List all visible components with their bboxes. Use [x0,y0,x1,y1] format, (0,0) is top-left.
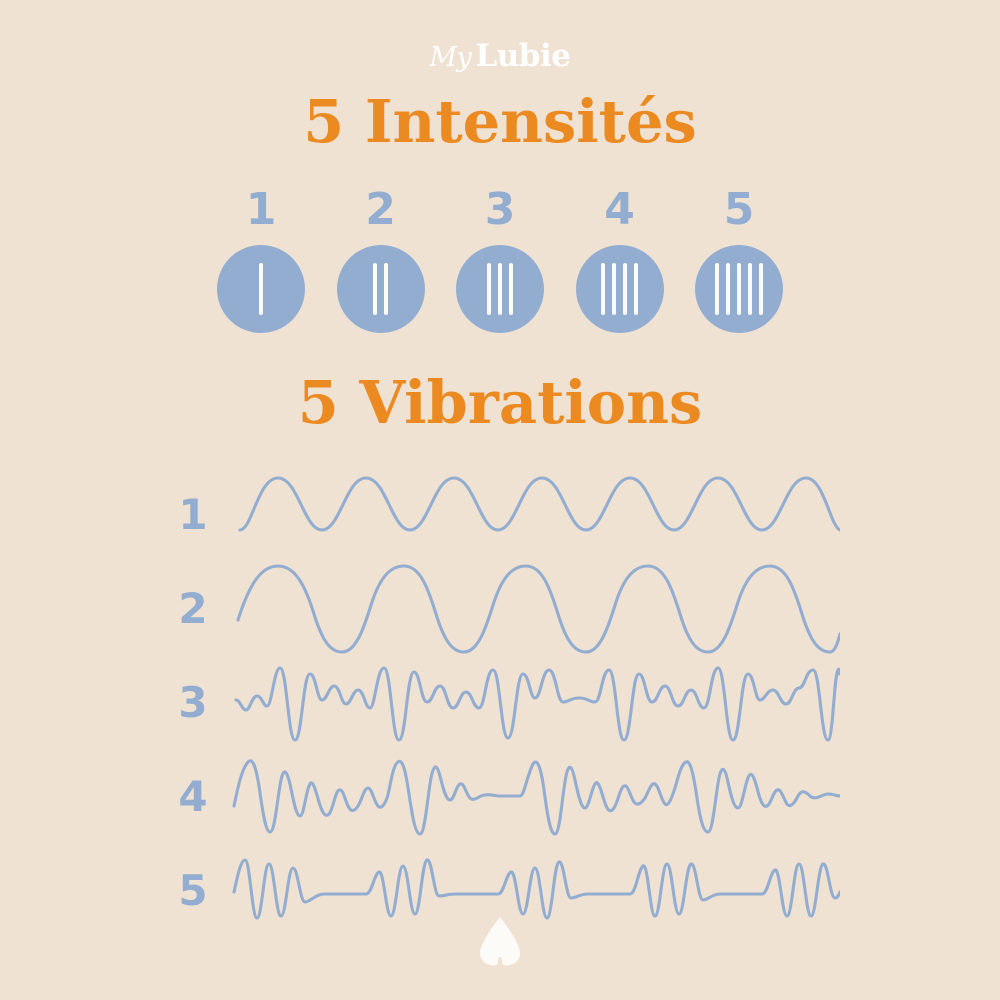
vibration-level-label: 1 [170,494,216,536]
vibration-waveform [232,468,840,562]
intensity-item-5[interactable]: 5 [693,188,785,333]
intensity-bar [259,263,263,315]
vibration-row-1[interactable]: 1 [0,468,1000,562]
intensity-bar [634,263,638,315]
footer-brand-mark [0,916,1000,973]
intensity-level-label: 2 [365,188,396,232]
waveform-svg [232,468,840,562]
intensity-level-label: 5 [724,188,755,232]
intensity-bar [748,263,752,315]
vibration-waveform [232,562,840,656]
waveform-path [236,668,840,740]
brand-logo-lubie: Lubie [475,38,570,74]
intensity-bar [737,263,741,315]
heart-leaf-icon [479,916,521,968]
vibrations-heading: 5 Vibrations [0,373,1000,432]
vibration-level-label: 5 [170,870,216,912]
vibration-row-4[interactable]: 4 [0,750,1000,844]
intensity-item-4[interactable]: 4 [574,188,666,333]
vibration-waveform [232,656,840,750]
intensity-bar [487,263,491,315]
intensity-circle[interactable] [576,245,664,333]
intensity-bar [715,263,719,315]
intensity-item-1[interactable]: 1 [215,188,307,333]
waveform-path [234,860,840,918]
intensities-heading: 5 Intensités [0,92,1000,151]
waveform-path [240,478,840,530]
intensity-bar [726,263,730,315]
waveform-svg [232,562,840,656]
intensity-item-3[interactable]: 3 [454,188,546,333]
vibration-level-label: 2 [170,588,216,630]
intensity-circle[interactable] [456,245,544,333]
intensity-circle[interactable] [217,245,305,333]
intensity-level-label: 1 [246,188,277,232]
waveform-svg [232,656,840,750]
intensity-bar [601,263,605,315]
vibration-list: 12345 [0,468,1000,938]
waveform-svg [232,750,840,844]
intensity-bar [623,263,627,315]
intensity-circle[interactable] [337,245,425,333]
poster-canvas: MyLubie 5 Intensités 12345 5 Vibrations … [0,0,1000,1000]
intensity-bar [759,263,763,315]
intensity-circle[interactable] [695,245,783,333]
vibration-level-label: 3 [170,682,216,724]
vibration-row-2[interactable]: 2 [0,562,1000,656]
vibration-waveform [232,750,840,844]
intensity-bar [384,263,388,315]
vibration-level-label: 4 [170,776,216,818]
waveform-path [234,761,840,834]
intensity-level-label: 4 [604,188,635,232]
intensity-bar [498,263,502,315]
intensity-bar [612,263,616,315]
vibration-row-3[interactable]: 3 [0,656,1000,750]
waveform-path [238,566,840,652]
intensity-bar [373,263,377,315]
brand-logo: MyLubie [0,41,1000,72]
intensity-item-2[interactable]: 2 [335,188,427,333]
intensity-row: 12345 [215,188,785,338]
brand-logo-my: My [430,42,472,73]
intensity-level-label: 3 [485,188,516,232]
intensity-bar [509,263,513,315]
